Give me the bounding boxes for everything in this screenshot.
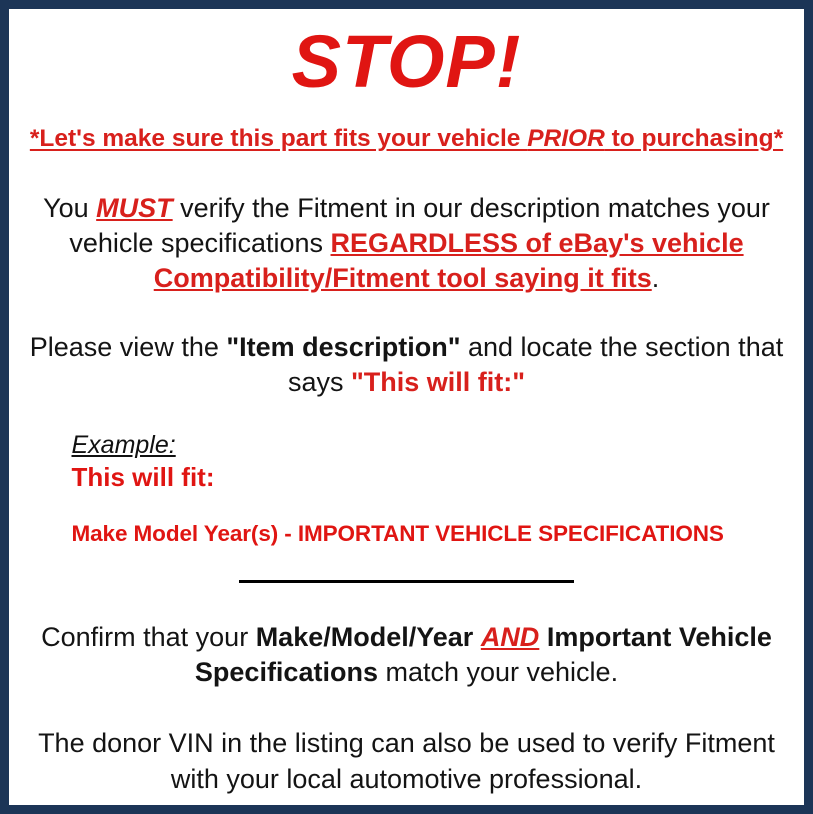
fitment-notice-body: STOP! *Let's make sure this part fits yo… xyxy=(9,9,804,805)
confirm-paragraph: Confirm that your Make/Model/Year AND Im… xyxy=(26,590,788,690)
example-spec-line: Make Model Year(s) - IMPORTANT VEHICLE S… xyxy=(72,492,788,547)
subtitle-suffix: to purchasing* xyxy=(605,125,783,152)
confirm-space-1 xyxy=(473,622,481,652)
item-description-paragraph: Please view the "Item description" and l… xyxy=(26,296,788,400)
and-emphasis: AND xyxy=(481,622,540,652)
vin-paragraph: The donor VIN in the listing can also be… xyxy=(26,690,788,796)
example-label: Example: xyxy=(72,430,176,461)
divider-rule xyxy=(239,580,574,583)
subtitle-prefix: *Let's make sure this part fits your veh… xyxy=(30,125,527,152)
must-verify-paragraph: You MUST verify the Fitment in our descr… xyxy=(26,155,788,296)
thank-you-line: Thank you for confirming Fitment! xyxy=(19,797,794,814)
example-fit-heading: This will fit: xyxy=(72,462,788,493)
section-divider xyxy=(19,547,794,590)
must-paragraph-part3: . xyxy=(652,263,660,293)
item-desc-part1: Please view the xyxy=(30,332,227,362)
confirm-part1: Confirm that your xyxy=(41,622,256,652)
stop-heading: STOP! xyxy=(19,9,794,99)
fitment-notice-frame: STOP! *Let's make sure this part fits yo… xyxy=(0,0,813,814)
example-block: Example: This will fit: Make Model Year(… xyxy=(26,400,788,547)
this-will-fit-quote: "This will fit:" xyxy=(351,367,525,397)
example-label-row: Example: xyxy=(72,430,788,461)
subtitle-emphasis-prior: PRIOR xyxy=(527,125,605,152)
make-model-year-emphasis: Make/Model/Year xyxy=(256,622,474,652)
confirm-part2: match your vehicle. xyxy=(378,657,618,687)
item-description-label: "Item description" xyxy=(226,332,460,362)
must-emphasis: MUST xyxy=(96,193,173,223)
must-paragraph-part1: You xyxy=(43,193,96,223)
confirm-space-2 xyxy=(539,622,547,652)
subtitle-banner: *Let's make sure this part fits your veh… xyxy=(19,99,794,155)
